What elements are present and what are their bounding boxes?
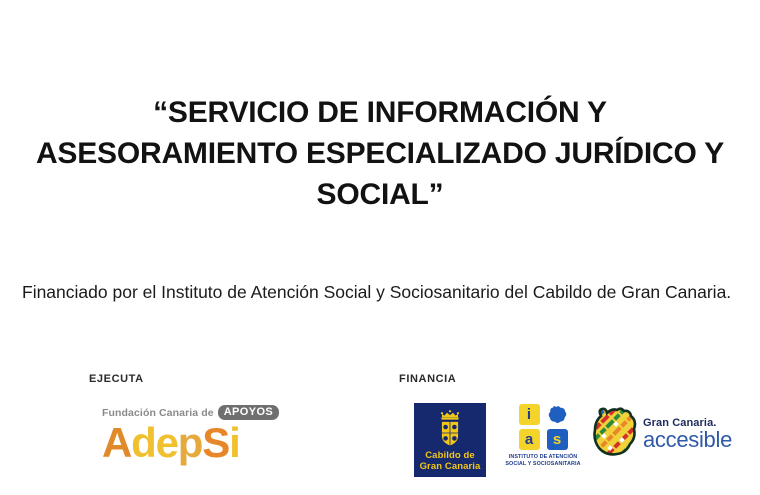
ias-tile-row-top: i [513, 404, 573, 425]
caption-ejecuta: EJECUTA [89, 373, 144, 385]
ias-blob-icon [547, 404, 568, 425]
adepsi-apoyos-badge: APOYOS [218, 405, 279, 420]
logo-row: Fundación Canaria de APOYOS AdepSi [0, 396, 760, 486]
logo-gran-canaria-accesible: Gran Canaria. accesible [590, 404, 740, 460]
funding-statement-text: Financiado por el Instituto de Atención … [22, 278, 736, 307]
adepsi-tagline: Fundación Canaria de [102, 407, 214, 419]
ias-tile-a: a [519, 429, 540, 450]
ias-tile-row-bottom: a s [513, 429, 573, 450]
adepsi-letter-d: d [131, 421, 155, 465]
cabildo-wordmark: Cabildo de Gran Canaria [420, 450, 481, 472]
ias-caption-line-1: INSTITUTO DE ATENCIÓN [504, 454, 582, 461]
title-line-1: “SERVICIO DE INFORMACIÓN Y [0, 92, 760, 133]
cabildo-line-1: Cabildo de [420, 450, 481, 461]
adepsi-tagline-row: Fundación Canaria de APOYOS [100, 405, 285, 420]
cabildo-line-2: Gran Canaria [420, 461, 481, 472]
title-line-2: ASESORAMIENTO ESPECIALIZADO JURÍDICO Y [0, 133, 760, 174]
gran-canaria-mosaic-icon [590, 404, 640, 460]
cabildo-crest-icon [435, 408, 465, 448]
ias-tile-s: s [547, 429, 568, 450]
gca-line-2: accesible [643, 428, 732, 451]
adepsi-letter-i: i [229, 421, 239, 465]
title-line-3: SOCIAL” [0, 174, 760, 215]
ias-tile-i: i [519, 404, 540, 425]
ias-caption-line-2: SOCIAL Y SOCIOSANITARIA [504, 461, 582, 468]
funding-statement: Financiado por el Instituto de Atención … [22, 278, 736, 307]
adepsi-letter-a: A [102, 421, 131, 465]
presentation-slide: “SERVICIO DE INFORMACIÓN Y ASESORAMIENTO… [0, 0, 760, 495]
logo-cabildo-gran-canaria: Cabildo de Gran Canaria [414, 403, 486, 477]
ias-tile-grid: i a s [513, 404, 573, 450]
adepsi-letter-p: p [178, 421, 202, 465]
logo-ias: i a s INSTITUTO DE ATENCIÓN SOCIAL Y SOC… [504, 404, 582, 468]
slide-title: “SERVICIO DE INFORMACIÓN Y ASESORAMIENTO… [0, 92, 760, 215]
adepsi-wordmark: AdepSi [100, 421, 285, 465]
logo-adepsi: Fundación Canaria de APOYOS AdepSi [100, 405, 285, 465]
adepsi-letter-s: S [202, 421, 229, 465]
gran-canaria-accesible-wordmark: Gran Canaria. accesible [643, 413, 732, 451]
adepsi-letter-e: e [156, 421, 178, 465]
caption-financia: FINANCIA [399, 373, 456, 385]
ias-caption: INSTITUTO DE ATENCIÓN SOCIAL Y SOCIOSANI… [504, 454, 582, 468]
